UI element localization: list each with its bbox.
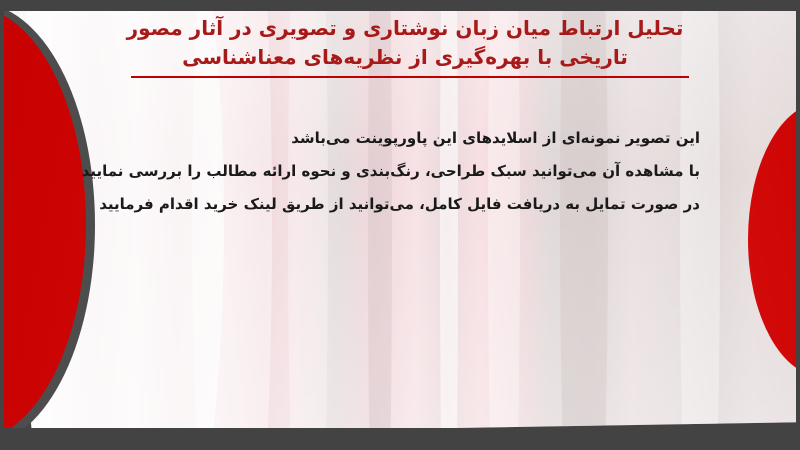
- bottom-frame-band: [0, 428, 800, 450]
- background-sheen-stripe: [192, 10, 272, 435]
- background-sheen-stripe: [440, 10, 458, 435]
- title-line-2: تاریخی با بهره‌گیری از نظریه‌های معناشنا…: [110, 43, 700, 72]
- slide-title: تحلیل ارتباط میان زبان نوشتاری و تصویری …: [110, 14, 700, 72]
- right-red-ellipse-decoration: [748, 102, 800, 377]
- title-line-1: تحلیل ارتباط میان زبان نوشتاری و تصویری …: [110, 14, 700, 43]
- slide-body-text: این تصویر نمونه‌ای از اسلایدهای این پاور…: [82, 122, 700, 221]
- title-underline-rule: [131, 76, 689, 78]
- right-frame-edge: [796, 0, 800, 450]
- presentation-slide: تحلیل ارتباط میان زبان نوشتاری و تصویری …: [0, 0, 800, 450]
- background-sheen-stripe: [560, 10, 608, 435]
- body-line-1: این تصویر نمونه‌ای از اسلایدهای این پاور…: [82, 122, 700, 155]
- body-line-3: در صورت تمایل به دریافت فایل کامل، می‌تو…: [82, 188, 700, 221]
- left-frame-edge: [0, 0, 4, 450]
- body-line-2: با مشاهده آن می‌توانید سبک طراحی، رنگ‌بن…: [82, 155, 700, 188]
- background-sheen-stripe: [680, 10, 720, 435]
- background-sheen-stripe: [368, 10, 392, 435]
- background-sheen-stripe: [288, 10, 328, 435]
- slide-background-panel: [0, 10, 800, 435]
- background-sheen-stripe: [488, 10, 520, 435]
- top-frame-band: [0, 0, 800, 11]
